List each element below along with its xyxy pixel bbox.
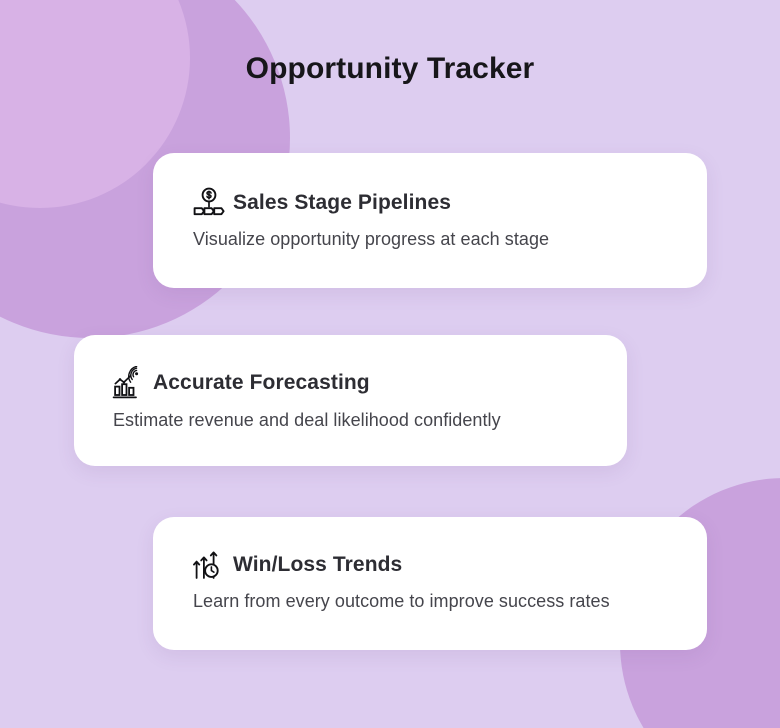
card-description: Learn from every outcome to improve succ… — [193, 591, 610, 612]
card-description: Visualize opportunity progress at each s… — [193, 229, 549, 250]
dollar-pipeline-icon — [192, 186, 226, 220]
card-title: Accurate Forecasting — [153, 371, 370, 395]
card-header: Accurate Forecasting — [112, 366, 370, 400]
feature-card-accurate-forecasting[interactable]: Accurate Forecasting Estimate revenue an… — [74, 335, 627, 466]
page-content: Opportunity Tracker Sales Stage Pipeline… — [0, 0, 780, 728]
card-description: Estimate revenue and deal likelihood con… — [113, 410, 501, 431]
card-header: Sales Stage Pipelines — [192, 186, 451, 220]
trend-arrows-clock-icon — [192, 548, 226, 582]
card-header: Win/Loss Trends — [192, 548, 402, 582]
card-title: Win/Loss Trends — [233, 553, 402, 577]
feature-card-win-loss-trends[interactable]: Win/Loss Trends Learn from every outcome… — [153, 517, 707, 650]
feature-card-sales-stage-pipelines[interactable]: Sales Stage Pipelines Visualize opportun… — [153, 153, 707, 288]
card-title: Sales Stage Pipelines — [233, 191, 451, 215]
page-title: Opportunity Tracker — [0, 52, 780, 86]
bar-chart-target-icon — [112, 366, 146, 400]
